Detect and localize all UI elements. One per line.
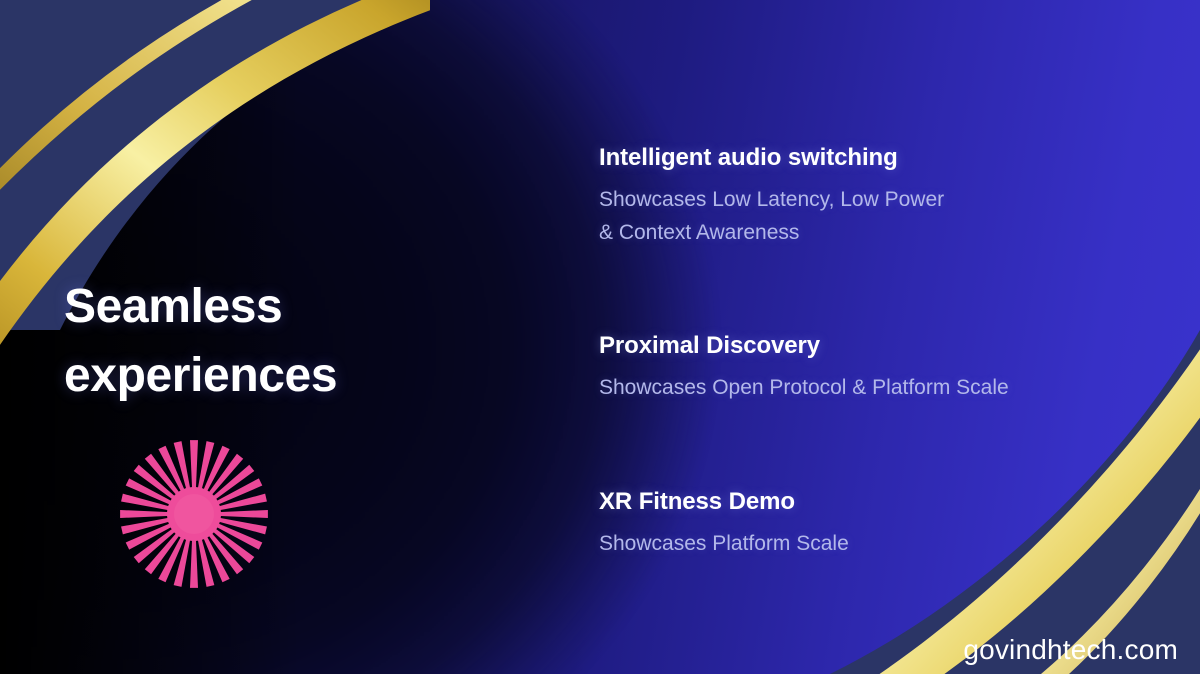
page-title: Seamless experiences (64, 272, 494, 410)
feature-item-2: Proximal Discovery Showcases Open Protoc… (599, 331, 1159, 404)
starburst-logo (118, 438, 270, 590)
slide-canvas: Seamless experiences Intelligent audio s… (0, 0, 1200, 674)
starburst-ray (190, 536, 198, 588)
feature-title-1: Intelligent audio switching (599, 143, 1159, 173)
feature-description-2: Showcases Open Protocol & Platform Scale (599, 371, 1159, 404)
feature-title-3: XR Fitness Demo (599, 487, 1159, 517)
feature-item-3: XR Fitness Demo Showcases Platform Scale (599, 487, 1159, 560)
feature-description-1: Showcases Low Latency, Low Power & Conte… (599, 183, 1159, 249)
starburst-ray (190, 440, 198, 492)
feature-title-2: Proximal Discovery (599, 331, 1159, 361)
left-column: Seamless experiences (64, 272, 494, 410)
feature-item-1: Intelligent audio switching Showcases Lo… (599, 143, 1159, 249)
watermark: govindhtech.com (963, 636, 1178, 664)
starburst-ray (120, 510, 172, 518)
starburst-core-inner (174, 494, 214, 534)
starburst-ray (216, 510, 268, 518)
starburst-icon (118, 438, 270, 590)
feature-description-3: Showcases Platform Scale (599, 527, 1159, 560)
